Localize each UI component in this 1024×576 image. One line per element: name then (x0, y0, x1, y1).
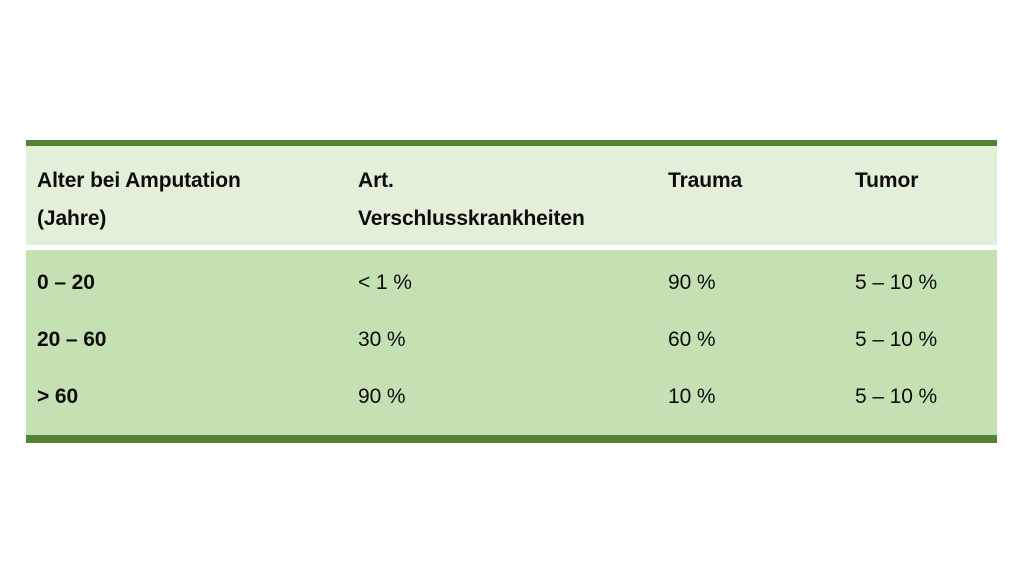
table-header-row: Alter bei Amputation (Jahre) Art. Versch… (26, 146, 997, 245)
cell-trauma: 90 % (668, 270, 855, 296)
column-header-trauma: Trauma (668, 162, 855, 200)
cell-trauma: 10 % (668, 384, 855, 410)
cell-tumor: 5 – 10 % (855, 327, 997, 353)
column-header-avk-line1: Art. (358, 169, 394, 192)
column-header-avk: Art. Verschlusskrankheiten (358, 162, 668, 238)
cell-trauma: 60 % (668, 327, 855, 353)
cell-tumor: 5 – 10 % (855, 270, 997, 296)
table-row: 20 – 60 30 % 60 % 5 – 10 % (26, 311, 997, 368)
slide-canvas: Alter bei Amputation (Jahre) Art. Versch… (0, 0, 1024, 576)
column-header-alter: Alter bei Amputation (Jahre) (26, 162, 358, 238)
cell-avk: 30 % (358, 327, 668, 353)
table-body: 0 – 20 < 1 % 90 % 5 – 10 % 20 – 60 30 % … (26, 250, 997, 435)
column-header-avk-line2: Verschlusskrankheiten (358, 200, 668, 238)
cell-avk: 90 % (358, 384, 668, 410)
column-header-alter-line2: (Jahre) (37, 200, 358, 238)
table-header: Alter bei Amputation (Jahre) Art. Versch… (26, 146, 997, 245)
amputation-causes-table: Alter bei Amputation (Jahre) Art. Versch… (26, 140, 997, 443)
cell-alter: > 60 (26, 384, 358, 410)
column-header-trauma-line1: Trauma (668, 169, 742, 192)
cell-alter: 0 – 20 (26, 270, 358, 296)
table-row: > 60 90 % 10 % 5 – 10 % (26, 368, 997, 435)
column-header-tumor-line1: Tumor (855, 169, 918, 192)
cell-avk: < 1 % (358, 270, 668, 296)
cell-alter: 20 – 60 (26, 327, 358, 353)
column-header-alter-line1: Alter bei Amputation (37, 169, 241, 192)
table-row: 0 – 20 < 1 % 90 % 5 – 10 % (26, 250, 997, 311)
cell-tumor: 5 – 10 % (855, 384, 997, 410)
column-header-tumor: Tumor (855, 162, 997, 200)
table-bottom-rule (26, 435, 997, 443)
